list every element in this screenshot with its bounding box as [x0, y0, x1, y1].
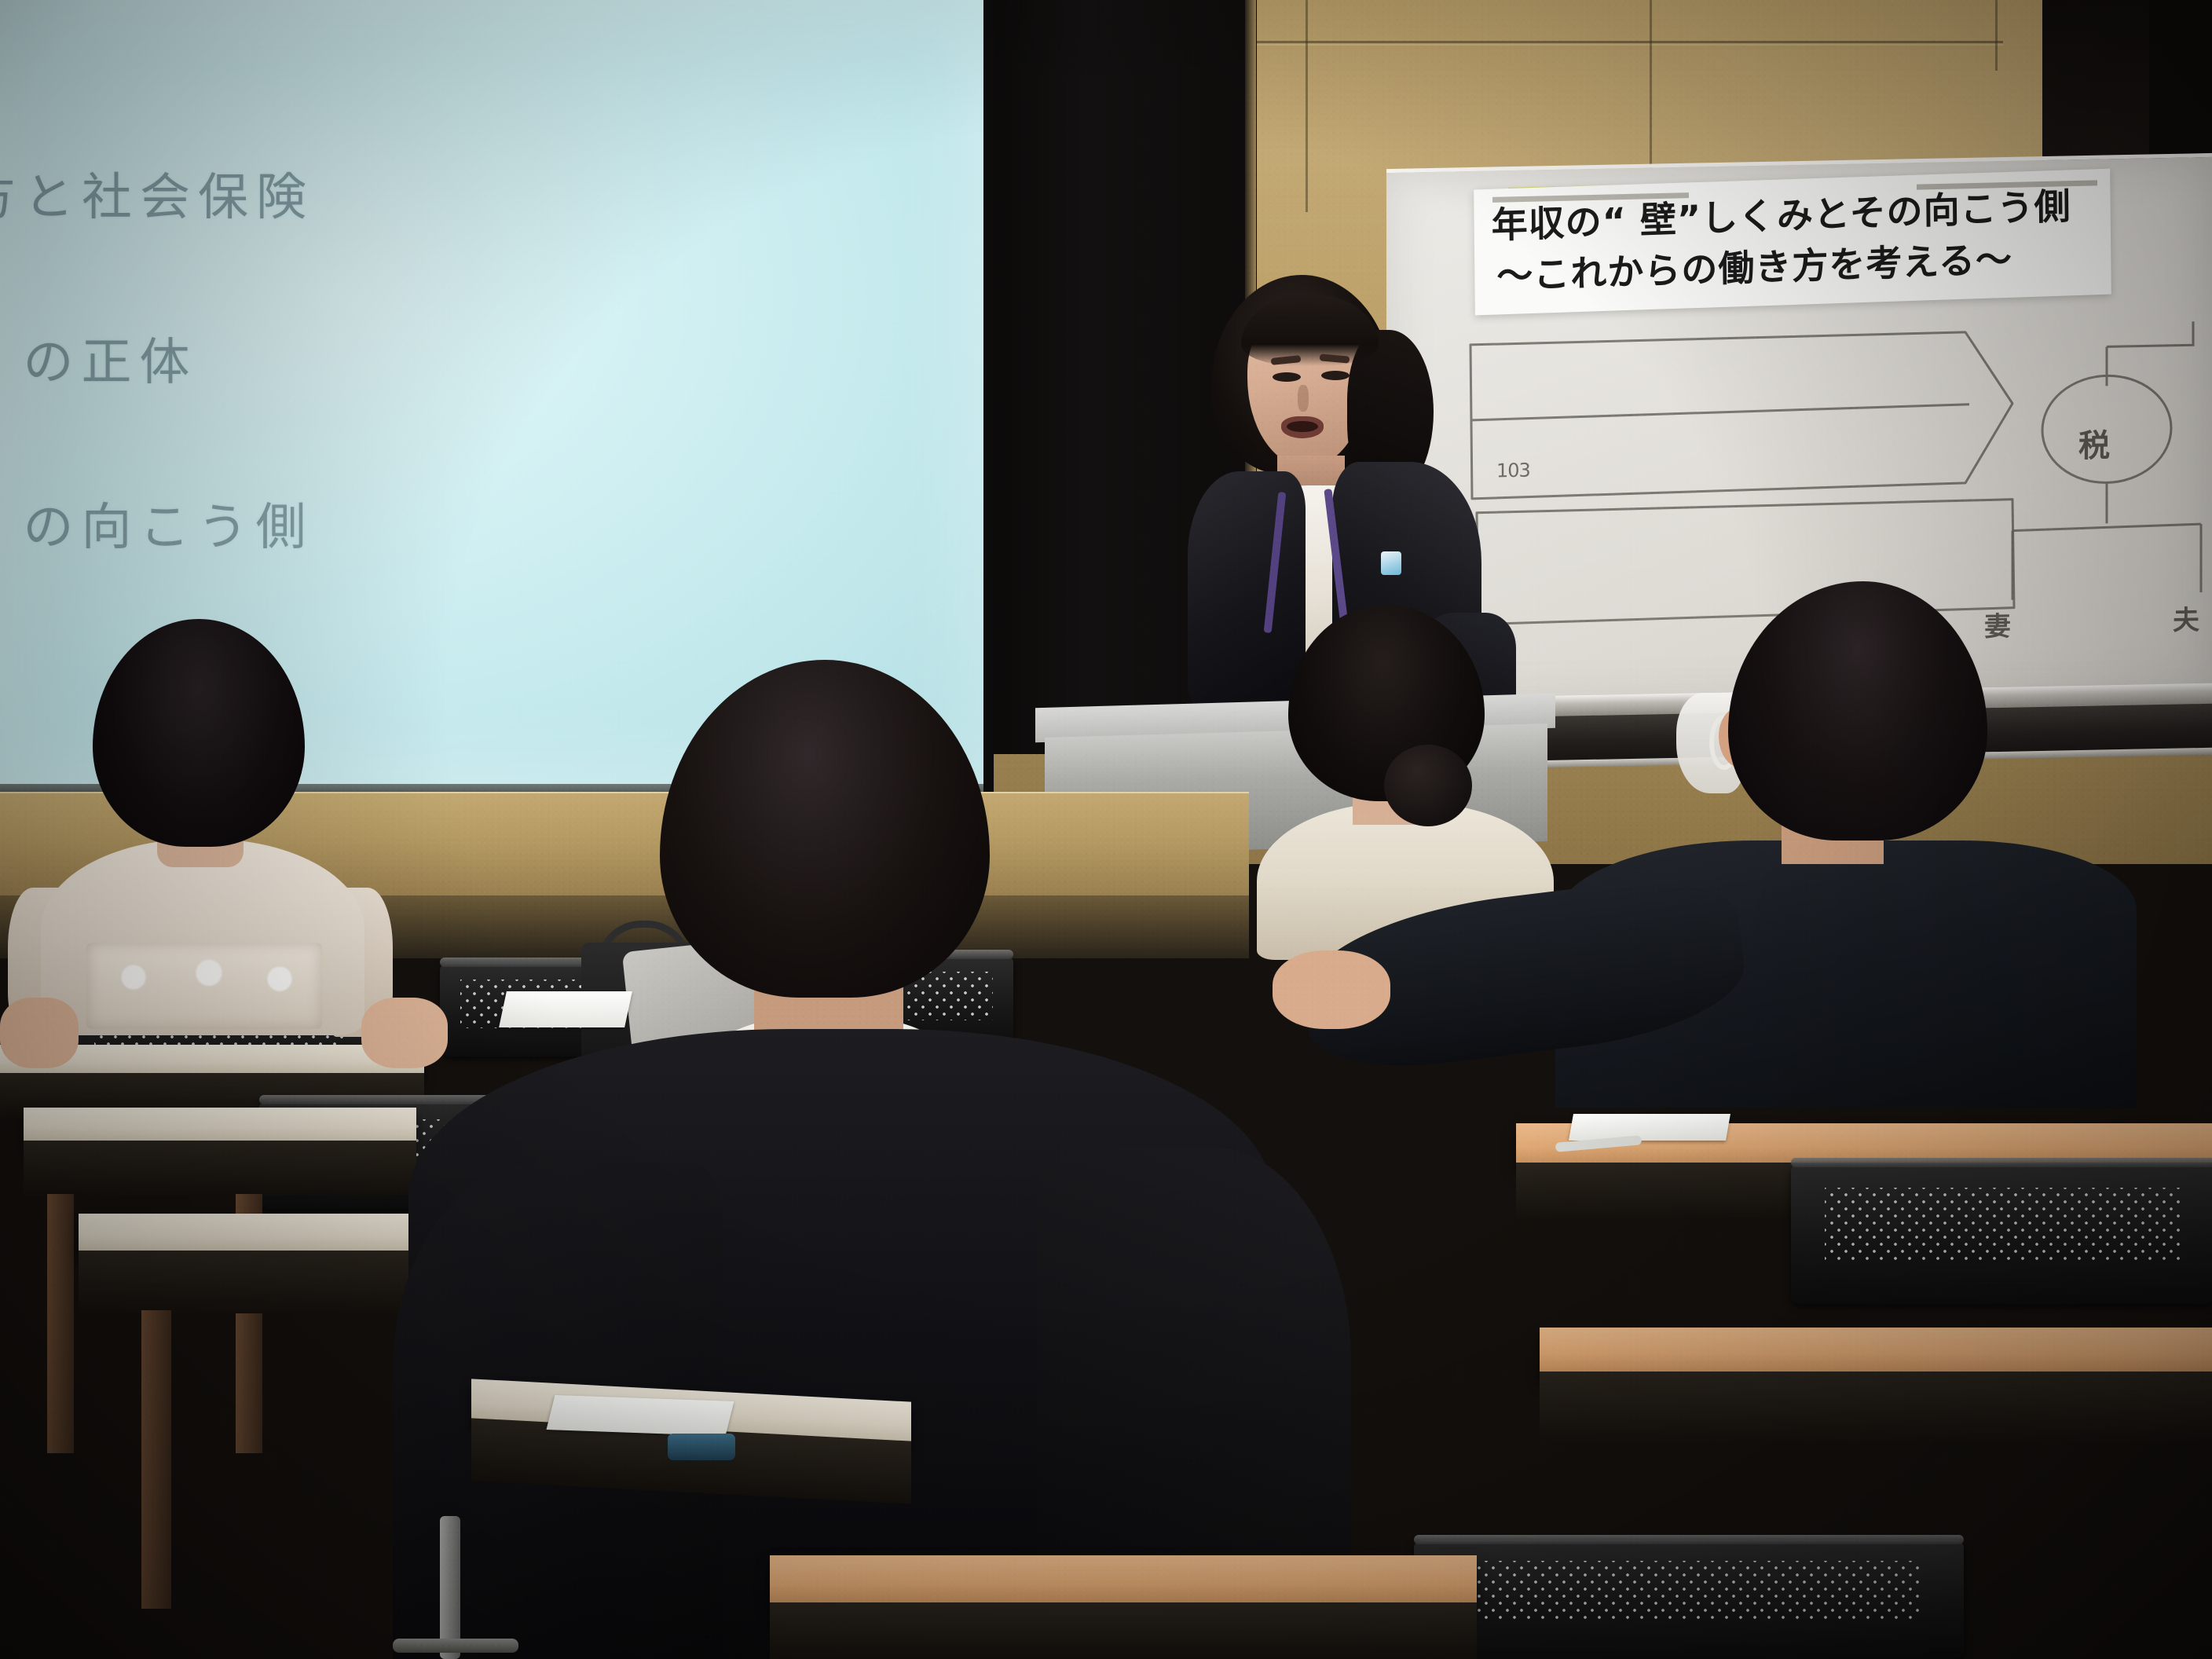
woman-left-lace-panel — [86, 943, 322, 1029]
presenter-lapel-pin — [1381, 551, 1401, 575]
woman-center-hair-bun — [1384, 745, 1472, 826]
seated-man-right — [1618, 581, 2212, 1100]
desk-edge — [770, 1602, 1477, 1659]
wall-vertical-seam — [1306, 0, 1308, 212]
smartphone[interactable] — [668, 1434, 735, 1460]
chair-top-lip — [1414, 1535, 1964, 1544]
stand-pole — [440, 1516, 460, 1659]
wall-vertical-seam — [1650, 0, 1652, 181]
woman-left-hand-right — [361, 998, 448, 1068]
chair[interactable] — [1791, 1163, 2212, 1304]
handout-paper[interactable] — [547, 1395, 734, 1436]
lecture-room-photo: 方と社会保険 ” の正体 ” の向こう側 ) 103 税 — [0, 0, 2212, 1659]
woman-left-hand-left — [0, 998, 79, 1068]
presenter-eye-right — [1321, 371, 1350, 380]
chair-top-lip — [1791, 1158, 2212, 1167]
desk[interactable] — [1540, 1328, 2212, 1376]
handout-paper[interactable] — [1569, 1114, 1730, 1141]
whiteboard-tax-label: 税 — [2078, 420, 2110, 467]
chair-mesh — [1825, 1188, 2181, 1262]
slide-line-1: 方と社会保険 — [0, 157, 314, 229]
man-foreground-hair — [660, 660, 990, 998]
desk-leg — [47, 1194, 74, 1453]
desk-edge — [24, 1141, 416, 1196]
slide-line-3: ” の向こう側 — [0, 487, 314, 559]
man-right-hair — [1728, 581, 1987, 840]
desk[interactable] — [24, 1108, 416, 1145]
slide-line-2: ” の正体 — [0, 322, 198, 394]
desk-edge — [1540, 1372, 2212, 1442]
wall-seam-highlight — [1178, 44, 2003, 46]
wall-vertical-seam — [1995, 0, 1998, 71]
presenter-mouth-inner — [1287, 421, 1318, 432]
wall-seam — [1178, 41, 2003, 43]
seated-man-foreground — [503, 660, 1320, 1659]
chair[interactable] — [1414, 1540, 1964, 1659]
whiteboard-title-paper: 年収の“ 壁”しくみとその向こう側 ～これからの働き方を考える～ — [1474, 169, 2111, 316]
woman-left-hair — [93, 619, 305, 847]
stand-foot — [393, 1639, 518, 1653]
chair-mesh — [1458, 1561, 1920, 1623]
presenter-eye-left — [1273, 372, 1301, 382]
presenter-nose — [1298, 385, 1309, 412]
seated-woman-left — [0, 628, 518, 1037]
desk[interactable] — [770, 1555, 1477, 1607]
desk-leg — [141, 1310, 171, 1609]
